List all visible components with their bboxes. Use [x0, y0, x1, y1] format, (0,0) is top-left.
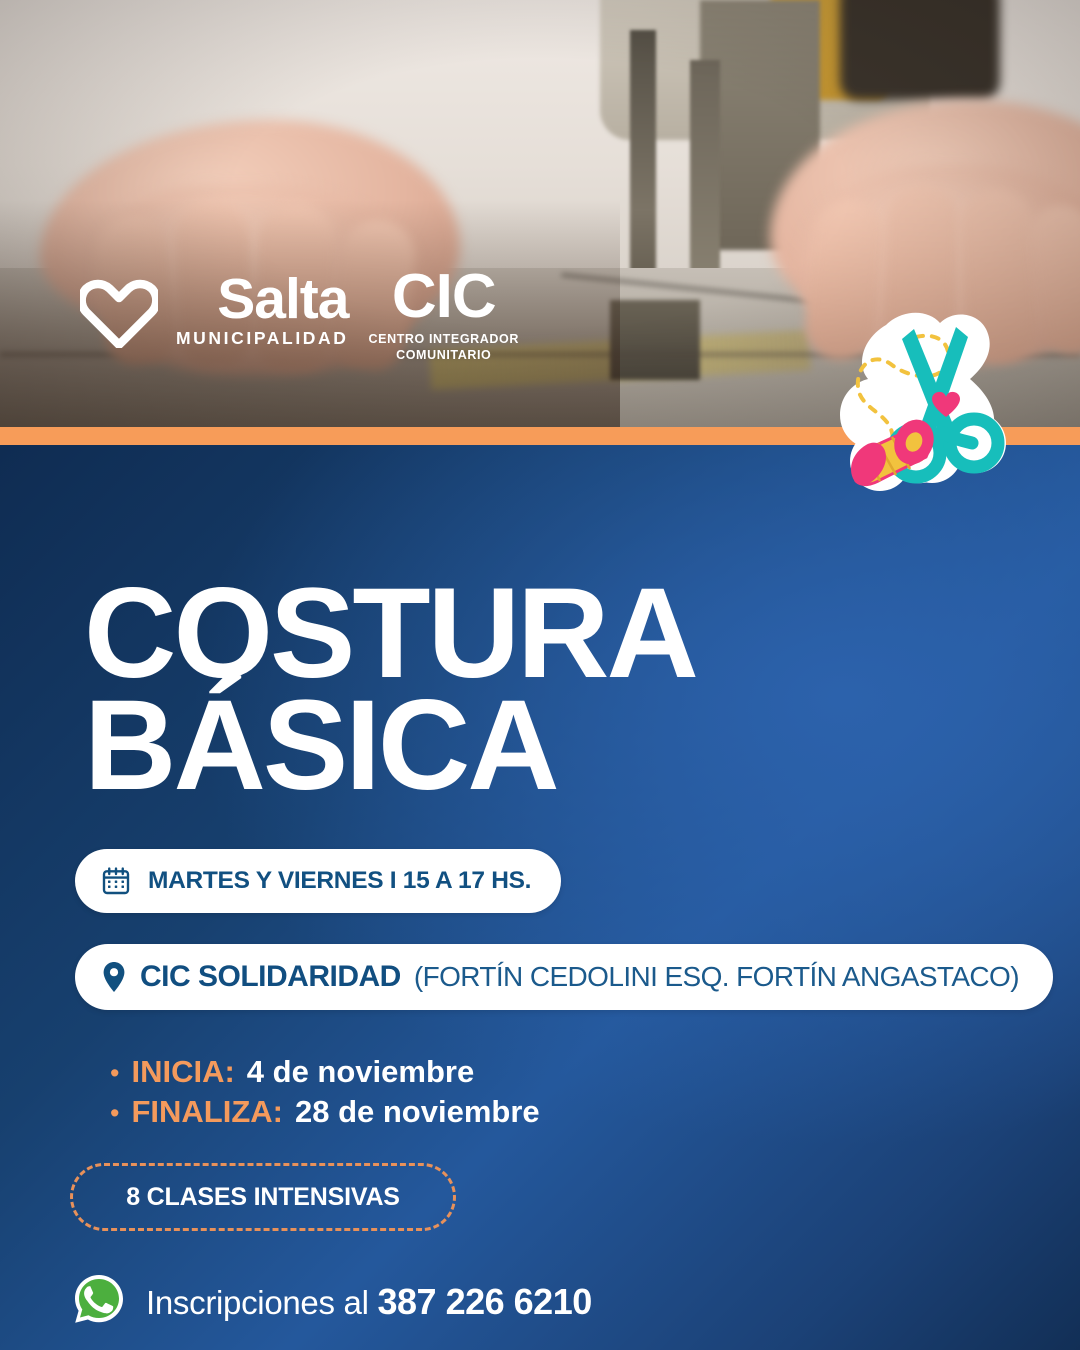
salta-brand-name: Salta — [217, 272, 348, 326]
cic-sub-line1: CENTRO INTEGRADOR — [369, 332, 519, 348]
salta-brand-sub: MUNICIPALIDAD — [176, 328, 349, 349]
heart-outline-icon — [80, 276, 158, 348]
dates-list: • INICIA: 4 de noviembre • FINALIZA: 28 … — [110, 1052, 540, 1131]
page-title: COSTURA BÁSICA — [84, 578, 696, 803]
classes-badge: 8 CLASES INTENSIVAS — [70, 1163, 456, 1231]
schedule-pill: MARTES Y VIERNES I 15 A 17 HS. — [75, 849, 561, 913]
bullet-icon: • — [110, 1060, 119, 1087]
cic-wordmark: CIC CENTRO INTEGRADOR COMUNITARIO — [369, 268, 519, 363]
schedule-text: MARTES Y VIERNES I 15 A 17 HS. — [148, 867, 531, 895]
cic-brand-name: CIC — [392, 268, 496, 327]
list-item: • INICIA: 4 de noviembre — [110, 1052, 540, 1092]
contact-row[interactable]: Inscripciones al 387 226 6210 — [72, 1272, 592, 1331]
page-title-line2: BÁSICA — [84, 690, 696, 803]
contact-prefix: Inscripciones al — [146, 1284, 369, 1321]
contact-text: Inscripciones al 387 226 6210 — [146, 1281, 592, 1323]
date-end-label: FINALIZA: — [131, 1092, 283, 1132]
location-address: (FORTÍN CEDOLINI ESQ. FORTÍN ANGASTACO) — [414, 961, 1019, 993]
map-pin-icon — [101, 961, 127, 993]
location-venue: CIC SOLIDARIDAD — [140, 960, 401, 994]
date-start-value: 4 de noviembre — [247, 1052, 474, 1092]
date-end-value: 28 de noviembre — [295, 1092, 540, 1132]
date-start-label: INICIA: — [131, 1052, 234, 1092]
location-pill: CIC SOLIDARIDAD (FORTÍN CEDOLINI ESQ. FO… — [75, 944, 1053, 1010]
contact-phone: 387 226 6210 — [378, 1281, 592, 1322]
poster-root: Salta MUNICIPALIDAD CIC CENTRO INTEGRADO… — [0, 0, 1080, 1350]
scissors-and-thread-spool-sticker — [828, 303, 1024, 509]
classes-badge-label: 8 CLASES INTENSIVAS — [126, 1183, 400, 1212]
calendar-icon — [101, 866, 131, 896]
whatsapp-icon[interactable] — [72, 1272, 126, 1331]
list-item: • FINALIZA: 28 de noviembre — [110, 1092, 540, 1132]
cic-sub-line2: COMUNITARIO — [396, 348, 491, 364]
bullet-icon: • — [110, 1100, 119, 1127]
brand-logo-block: Salta MUNICIPALIDAD CIC CENTRO INTEGRADO… — [80, 268, 519, 363]
salta-wordmark: Salta MUNICIPALIDAD — [176, 272, 349, 349]
